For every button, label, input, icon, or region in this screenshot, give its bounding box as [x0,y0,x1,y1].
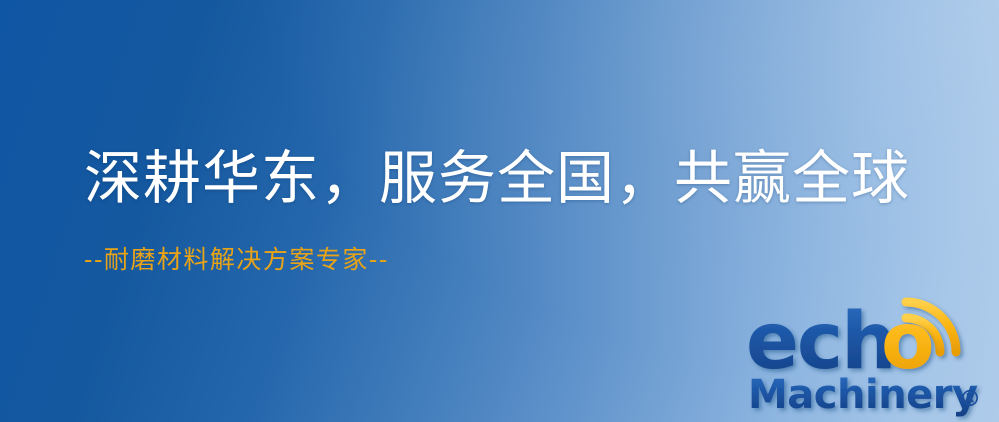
logo-registered-mark: ® [959,387,981,412]
echo-machinery-logo: ech o Machinery ® [744,296,994,422]
banner-text-block: 深耕华东，服务全国，共赢全球 --耐磨材料解决方案专家-- [84,146,910,275]
logo-wordmark-machinery: Machinery [748,372,978,418]
banner-headline: 深耕华东，服务全国，共赢全球 [84,146,910,211]
promo-banner: 深耕华东，服务全国，共赢全球 --耐磨材料解决方案专家-- [0,0,999,422]
banner-subtitle: --耐磨材料解决方案专家-- [84,245,910,275]
